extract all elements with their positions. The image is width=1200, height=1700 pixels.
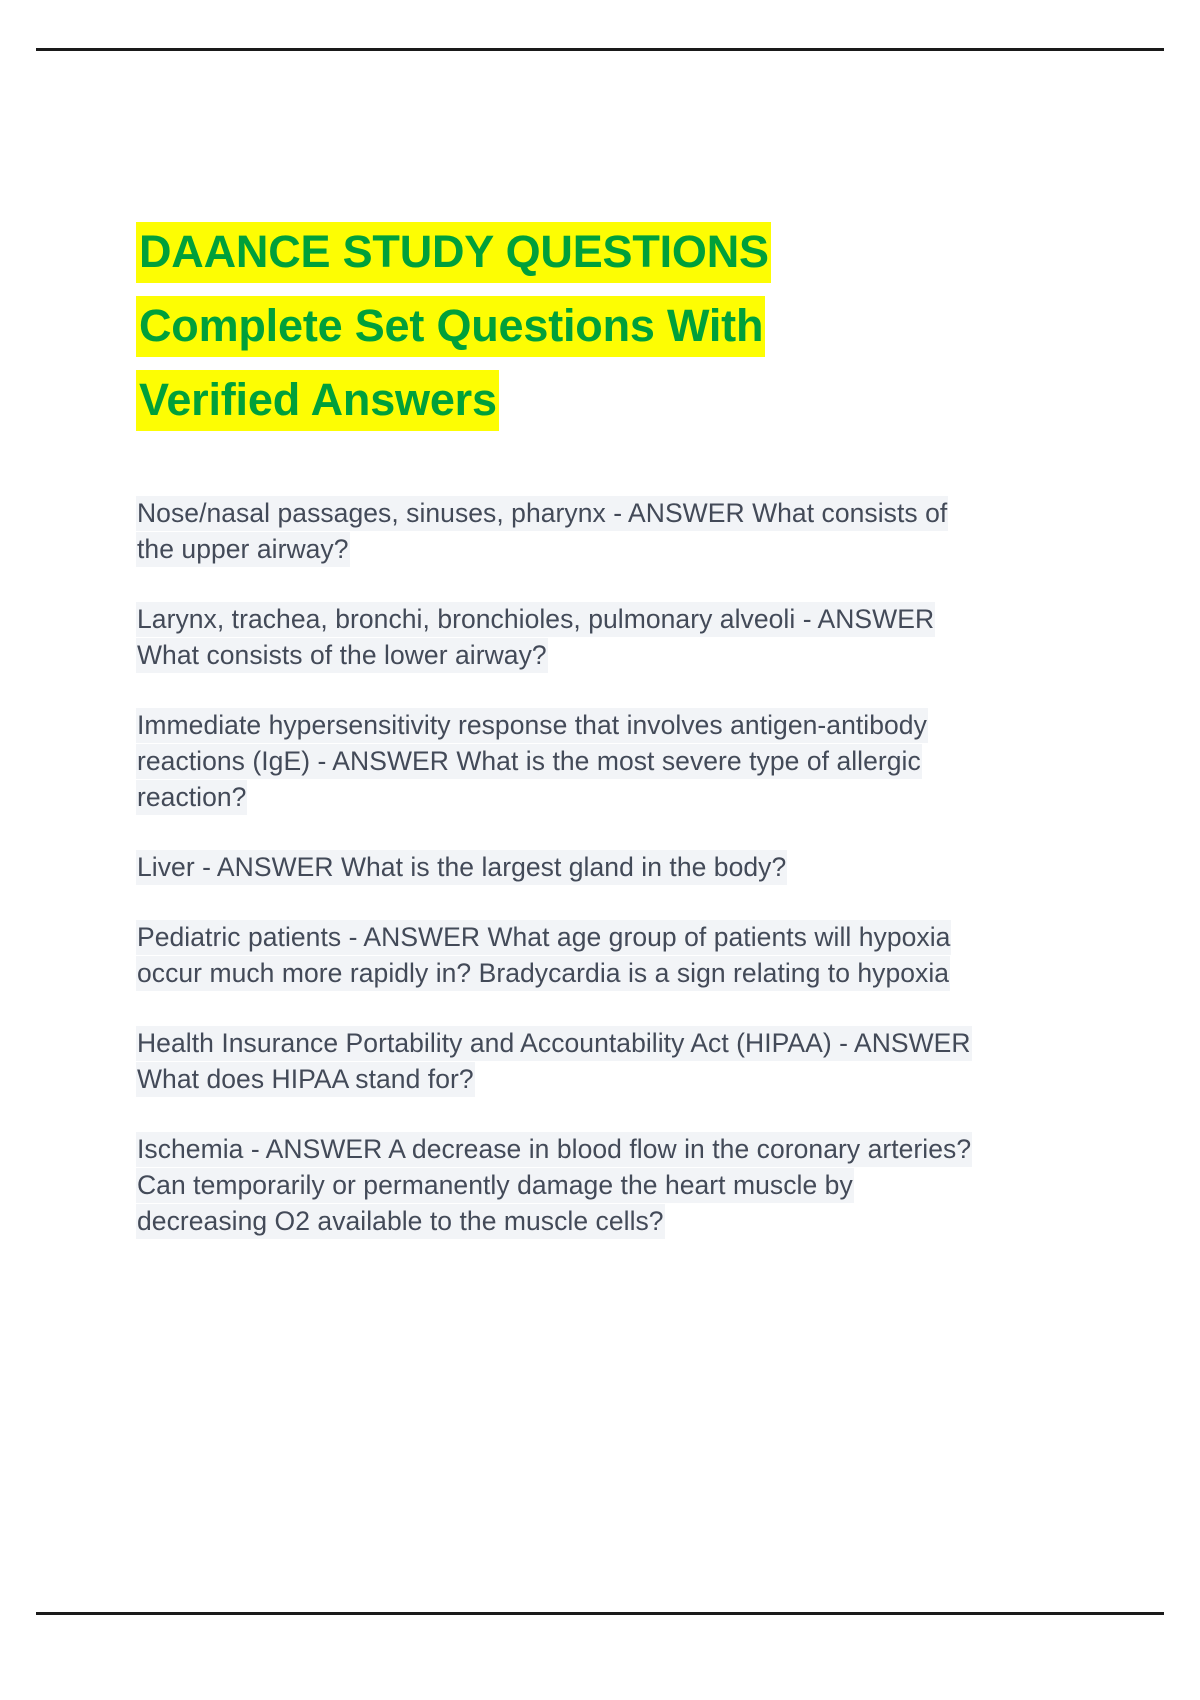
qa-item-text: Larynx, trachea, bronchi, bronchioles, p… xyxy=(136,602,935,673)
qa-item-text: Ischemia - ANSWER A decrease in blood fl… xyxy=(136,1132,972,1239)
page-title-line-3: Verified Answers xyxy=(136,370,499,431)
qa-item: Larynx, trachea, bronchi, bronchioles, p… xyxy=(136,601,981,673)
qa-item-text: Nose/nasal passages, sinuses, pharynx - … xyxy=(136,496,948,567)
qa-list: Nose/nasal passages, sinuses, pharynx - … xyxy=(136,495,1036,1239)
qa-item: Health Insurance Portability and Account… xyxy=(136,1025,981,1097)
qa-item: Immediate hypersensitivity response that… xyxy=(136,707,981,815)
page-title: DAANCE STUDY QUESTIONSComplete Set Quest… xyxy=(136,215,926,437)
qa-item: Nose/nasal passages, sinuses, pharynx - … xyxy=(136,495,981,567)
document-page: DAANCE STUDY QUESTIONSComplete Set Quest… xyxy=(0,0,1200,1700)
qa-item-text: Liver - ANSWER What is the largest gland… xyxy=(136,850,787,885)
header-divider-rule xyxy=(36,48,1164,51)
qa-item-text: Health Insurance Portability and Account… xyxy=(136,1026,972,1097)
footer-divider-rule xyxy=(36,1612,1164,1615)
qa-item: Ischemia - ANSWER A decrease in blood fl… xyxy=(136,1131,981,1239)
qa-item-text: Immediate hypersensitivity response that… xyxy=(136,708,928,815)
page-title-line-1: DAANCE STUDY QUESTIONS xyxy=(136,222,771,283)
page-title-line-2: Complete Set Questions With xyxy=(136,296,765,357)
qa-item: Liver - ANSWER What is the largest gland… xyxy=(136,849,981,885)
document-content: DAANCE STUDY QUESTIONSComplete Set Quest… xyxy=(136,215,1036,1273)
qa-item-text: Pediatric patients - ANSWER What age gro… xyxy=(136,920,951,991)
qa-item: Pediatric patients - ANSWER What age gro… xyxy=(136,919,981,991)
